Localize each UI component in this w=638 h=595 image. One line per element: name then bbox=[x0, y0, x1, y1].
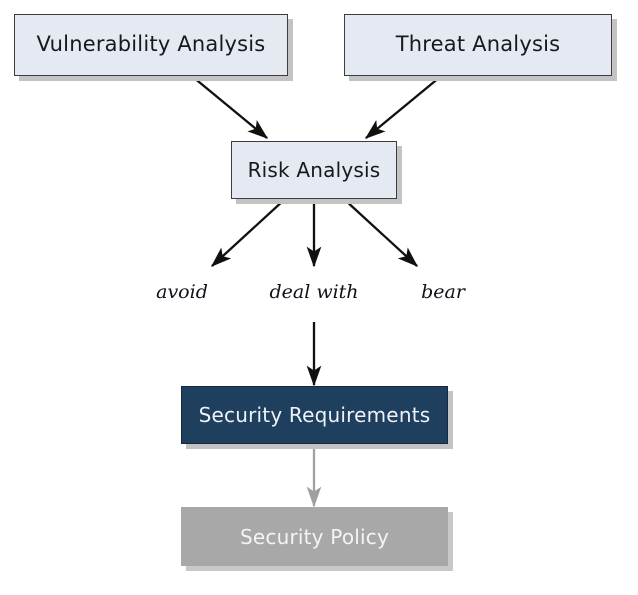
edge-vulnerability-to-risk bbox=[193, 77, 267, 138]
edge-threat-to-risk bbox=[366, 77, 440, 138]
node-threat-analysis-label: Threat Analysis bbox=[396, 33, 561, 56]
edge-label-avoid: avoid bbox=[156, 281, 208, 303]
node-vulnerability-analysis-label: Vulnerability Analysis bbox=[37, 33, 266, 56]
node-risk-analysis-label: Risk Analysis bbox=[248, 159, 381, 181]
edge-label-bear: bear bbox=[421, 281, 465, 303]
diagram-canvas: Vulnerability Analysis Threat Analysis R… bbox=[0, 0, 638, 595]
node-security-policy[interactable]: Security Policy bbox=[181, 507, 448, 566]
node-security-requirements[interactable]: Security Requirements bbox=[181, 386, 448, 444]
node-vulnerability-analysis[interactable]: Vulnerability Analysis bbox=[14, 14, 288, 76]
node-security-requirements-label: Security Requirements bbox=[199, 404, 431, 426]
node-threat-analysis[interactable]: Threat Analysis bbox=[344, 14, 612, 76]
edge-label-deal-with: deal with bbox=[269, 281, 358, 303]
node-risk-analysis[interactable]: Risk Analysis bbox=[231, 141, 397, 199]
edge-risk-to-bear bbox=[345, 200, 417, 266]
node-security-policy-label: Security Policy bbox=[240, 526, 389, 548]
edge-risk-to-avoid bbox=[212, 200, 284, 266]
